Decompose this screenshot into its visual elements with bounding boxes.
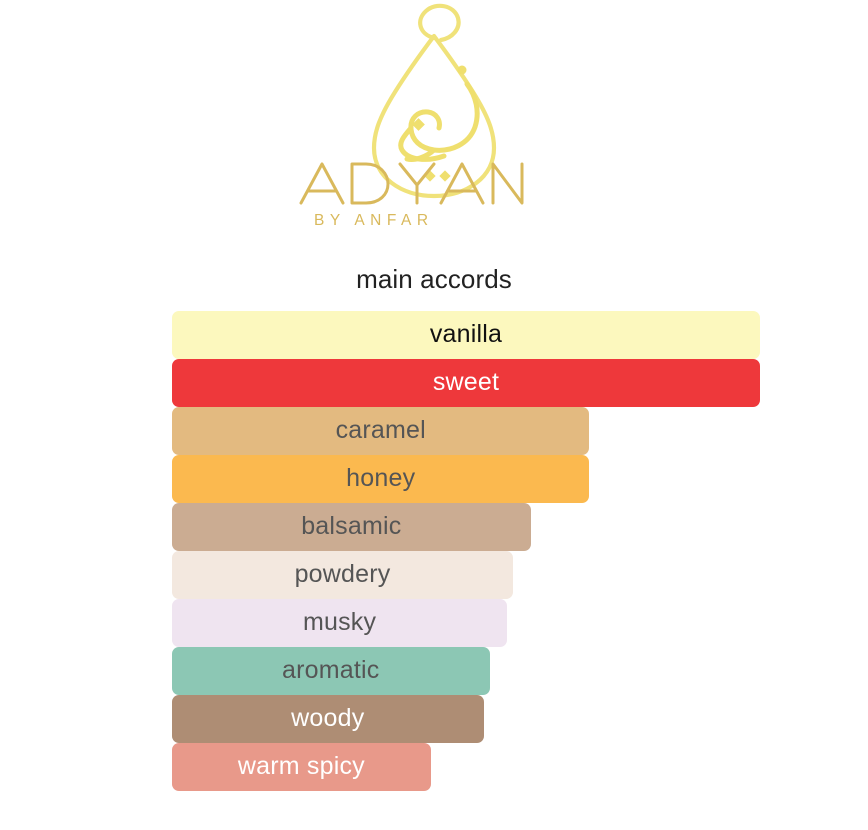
accord-bar-aromatic[interactable]: aromatic	[172, 647, 490, 695]
accord-label: vanilla	[430, 322, 502, 348]
arabic-calligraphy-glyph	[401, 84, 477, 160]
accord-label: powdery	[295, 562, 391, 588]
accord-label: caramel	[336, 418, 426, 444]
accord-bar-musky[interactable]: musky	[172, 599, 507, 647]
accord-label: warm spicy	[238, 754, 365, 780]
accord-row: powdery	[172, 551, 772, 599]
adyan-teardrop-calligraphy-logo: BY ANFAR	[284, 0, 584, 232]
main-accords-chart: vanillasweetcaramelhoneybalsamicpowderym…	[172, 311, 772, 791]
accord-row: sweet	[172, 359, 772, 407]
adyan-logo: BY ANFAR	[0, 0, 868, 232]
accord-row: vanilla	[172, 311, 772, 359]
brand-tagline: BY ANFAR	[314, 212, 434, 229]
accord-row: caramel	[172, 407, 772, 455]
accord-row: aromatic	[172, 647, 772, 695]
accord-row: musky	[172, 599, 772, 647]
accord-bar-powdery[interactable]: powdery	[172, 551, 513, 599]
accord-row: honey	[172, 455, 772, 503]
accord-bar-warm-spicy[interactable]: warm spicy	[172, 743, 431, 791]
accord-label: sweet	[433, 370, 499, 396]
accord-row: warm spicy	[172, 743, 772, 791]
accord-row: woody	[172, 695, 772, 743]
accord-label: honey	[346, 466, 415, 492]
accord-bar-honey[interactable]: honey	[172, 455, 589, 503]
accord-bar-balsamic[interactable]: balsamic	[172, 503, 531, 551]
accord-label: aromatic	[282, 658, 379, 684]
svg-text:BY ANFAR: BY ANFAR	[314, 212, 434, 229]
accord-bar-vanilla[interactable]: vanilla	[172, 311, 760, 359]
accord-bar-woody[interactable]: woody	[172, 695, 484, 743]
brand-header: BY ANFAR	[0, 0, 868, 232]
accord-label: woody	[291, 706, 364, 732]
accord-label: musky	[303, 610, 376, 636]
page-title: main accords	[0, 255, 868, 303]
accord-bar-sweet[interactable]: sweet	[172, 359, 760, 407]
accord-bar-caramel[interactable]: caramel	[172, 407, 589, 455]
accord-label: balsamic	[301, 514, 401, 540]
accord-row: balsamic	[172, 503, 772, 551]
